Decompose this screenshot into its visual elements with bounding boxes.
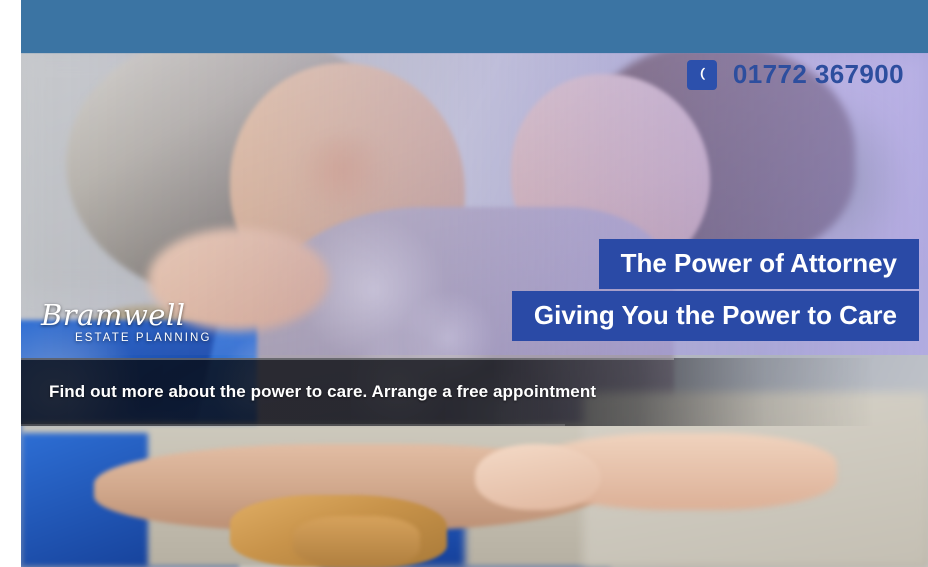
photo-cane-handle [293,516,420,567]
phone-contact[interactable]: 01772 367900 [687,59,904,90]
subtitle-band-bottom-edge [21,424,565,426]
photo-clasped-hands [475,444,602,511]
subtitle-band-top-edge [21,358,674,360]
brand-name: Bramwell [41,301,212,330]
phone-number[interactable]: 01772 367900 [733,59,904,90]
hero-banner: 01772 367900 The Power of Attorney Givin… [21,53,928,567]
brand-logo[interactable]: Bramwell ESTATE PLANNING [41,301,212,344]
headline-line-2: Giving You the Power to Care [512,291,919,341]
photo-elderly-cheek [293,135,393,207]
top-navigation-bar[interactable] [21,0,928,53]
page-root: 01772 367900 The Power of Attorney Givin… [0,0,928,567]
subtitle-text: Find out more about the power to care. A… [49,382,596,402]
brand-tagline: ESTATE PLANNING [75,332,212,344]
headline-line-1: The Power of Attorney [599,239,919,289]
phone-icon [687,60,717,90]
subtitle-band[interactable]: Find out more about the power to care. A… [21,358,928,426]
headline-group: The Power of Attorney Giving You the Pow… [512,239,919,341]
